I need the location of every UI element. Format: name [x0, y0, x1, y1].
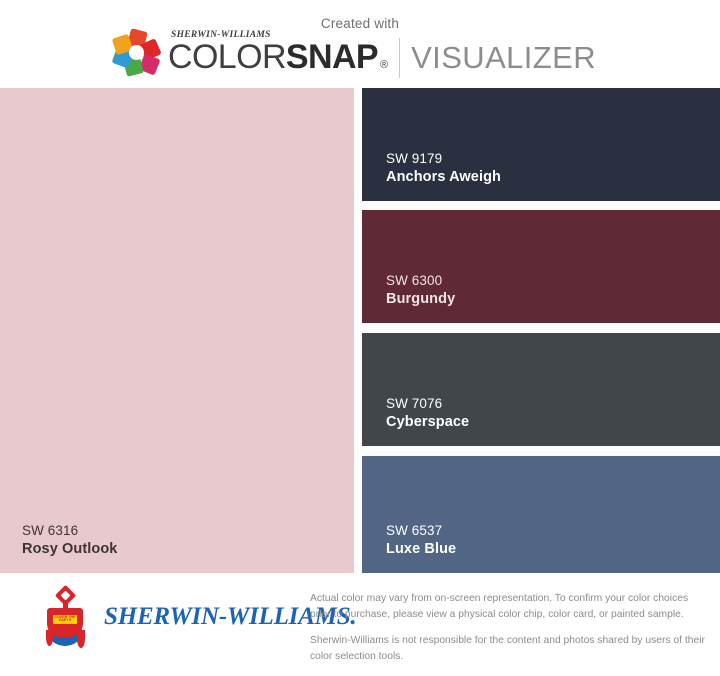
- title-divider: [399, 38, 400, 78]
- sherwin-williams-logo: COVER THE EARTH Sherwin-Williams.: [38, 586, 356, 648]
- colorsnap-palette-page: Created with Sherwin-Williams COLOR SNAP…: [0, 0, 720, 676]
- logo-band-text: COVER THE EARTH: [53, 615, 77, 622]
- swatch-code: SW 6300: [386, 272, 455, 290]
- colorsnap-pinwheel-icon: [112, 30, 162, 78]
- swatch-label: SW 6316 Rosy Outlook: [22, 522, 117, 559]
- color-swatch-grid: SW 6316 Rosy Outlook SW 9179 Anchors Awe…: [0, 88, 720, 573]
- swatch-label: SW 6300 Burgundy: [386, 272, 455, 309]
- swatch-name: Anchors Aweigh: [386, 168, 501, 187]
- swatch-burgundy[interactable]: SW 6300 Burgundy: [362, 210, 720, 323]
- swatch-label: SW 6537 Luxe Blue: [386, 522, 456, 559]
- disclaimer-paragraph-2: Sherwin-Williams is not responsible for …: [310, 633, 708, 664]
- disclaimer-paragraph-1: Actual color may vary from on-screen rep…: [310, 591, 708, 622]
- swatch-code: SW 6316: [22, 522, 117, 540]
- colorsnap-visualizer-title: COLOR SNAP ® VISUALIZER: [168, 38, 596, 78]
- swatch-main-rosy-outlook[interactable]: SW 6316 Rosy Outlook: [0, 88, 354, 573]
- paint-can-icon: [55, 585, 76, 606]
- swatch-name: Luxe Blue: [386, 540, 456, 559]
- registered-trademark-icon: ®: [380, 59, 388, 71]
- created-with-label: Created with: [0, 16, 720, 31]
- swatch-label: SW 9179 Anchors Aweigh: [386, 150, 501, 187]
- swatch-code: SW 9179: [386, 150, 501, 168]
- colorsnap-snap-word: SNAP: [286, 38, 378, 77]
- swatch-name: Rosy Outlook: [22, 540, 117, 559]
- logo-band: COVER THE EARTH: [53, 615, 77, 624]
- page-footer: COVER THE EARTH Sherwin-Williams. Actual…: [0, 573, 720, 676]
- swatch-cyberspace[interactable]: SW 7076 Cyberspace: [362, 333, 720, 446]
- swatch-anchors-aweigh[interactable]: SW 9179 Anchors Aweigh: [362, 88, 720, 201]
- swatch-code: SW 7076: [386, 395, 469, 413]
- colorsnap-wordmark: Sherwin-Williams COLOR SNAP ® VISUALIZER: [168, 30, 596, 78]
- app-header: Created with Sherwin-Williams COLOR SNAP…: [0, 0, 720, 88]
- cover-the-earth-icon: COVER THE EARTH: [38, 586, 94, 648]
- colorsnap-color-word: COLOR: [168, 38, 286, 77]
- swatch-name: Burgundy: [386, 290, 455, 309]
- colorsnap-logo: Sherwin-Williams COLOR SNAP ® VISUALIZER: [112, 30, 596, 78]
- disclaimer-text: Actual color may vary from on-screen rep…: [310, 591, 708, 665]
- swatch-name: Cyberspace: [386, 413, 469, 432]
- pinwheel-center: [129, 45, 144, 60]
- swatch-luxe-blue[interactable]: SW 6537 Luxe Blue: [362, 456, 720, 573]
- visualizer-word: VISUALIZER: [411, 40, 596, 76]
- swatch-code: SW 6537: [386, 522, 456, 540]
- swatch-label: SW 7076 Cyberspace: [386, 395, 469, 432]
